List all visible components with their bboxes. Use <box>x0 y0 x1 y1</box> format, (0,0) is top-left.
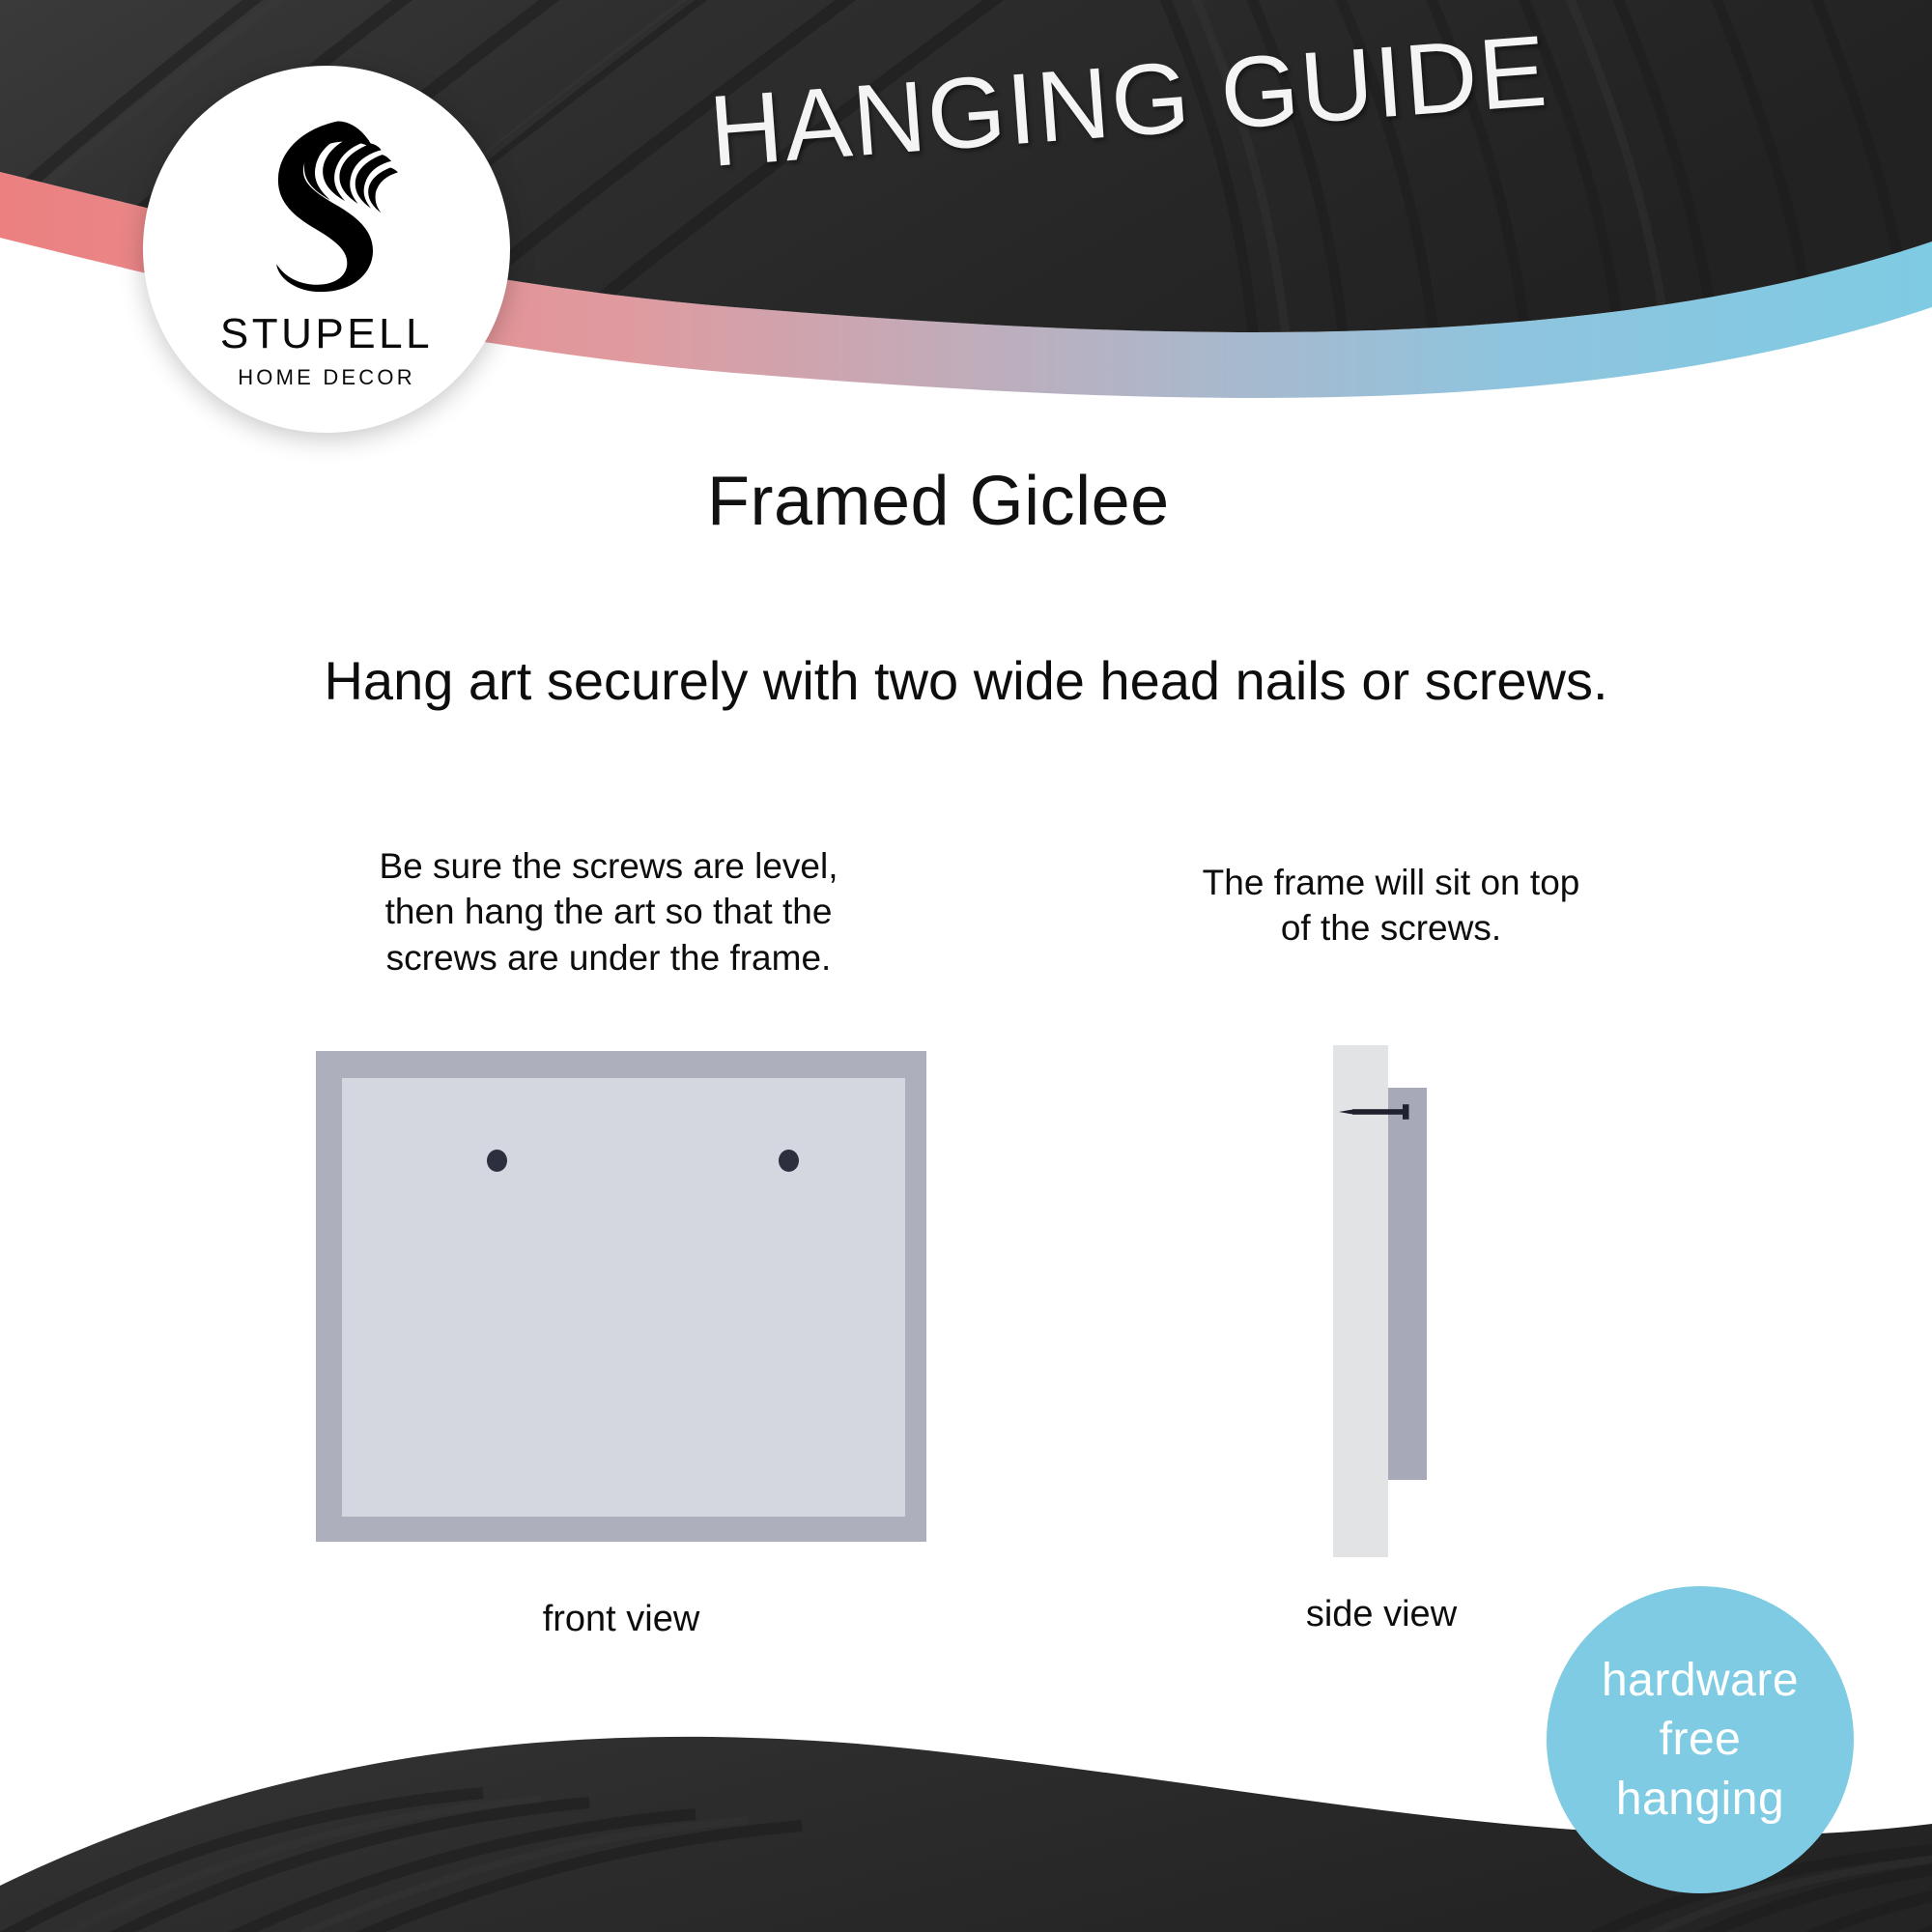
side-view-diagram <box>1333 1045 1488 1557</box>
hardware-free-hanging-badge: hardware free hanging <box>1547 1586 1854 1893</box>
front-view-caption: Be sure the screws are level, then hang … <box>299 843 918 980</box>
brand-logo-badge: STUPELL HOME DECOR <box>143 66 510 433</box>
screw-dot-right-icon <box>779 1150 799 1172</box>
hardware-free-hanging-text: hardware free hanging <box>1602 1651 1799 1829</box>
screw-dot-left-icon <box>487 1150 507 1172</box>
side-view-caption: The frame will sit on top of the screws. <box>1140 860 1642 952</box>
page-title: HANGING GUIDE <box>706 14 1552 189</box>
stupell-swirl-s-logo-icon <box>234 108 419 298</box>
instruction-lede: Hang art securely with two wide head nai… <box>0 649 1932 712</box>
brand-name: STUPELL <box>220 313 433 355</box>
product-type-heading: Framed Giclee <box>707 462 1170 541</box>
side-view-frame <box>1388 1088 1427 1480</box>
side-view-label: side view <box>1256 1594 1507 1635</box>
hanging-guide-page: STUPELL HOME DECOR HANGING GUIDE Framed … <box>0 0 1932 1932</box>
front-view-diagram <box>316 1051 926 1542</box>
front-view-mat <box>342 1078 905 1517</box>
front-view-label: front view <box>316 1599 926 1640</box>
nail-icon <box>1339 1102 1420 1122</box>
side-view-wall <box>1333 1045 1388 1557</box>
brand-tagline: HOME DECOR <box>238 367 415 388</box>
